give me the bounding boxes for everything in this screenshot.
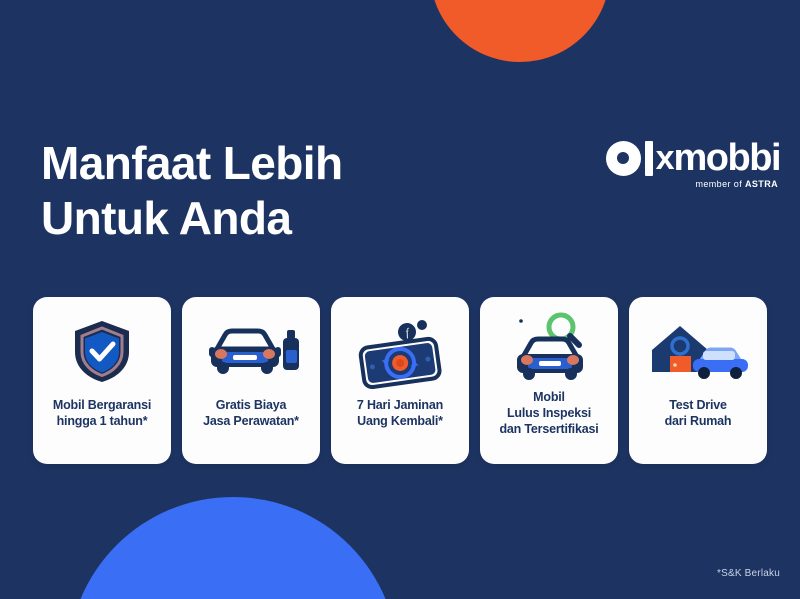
blue-circle-decoration xyxy=(68,497,398,599)
logo-member-brand: ASTRA xyxy=(745,179,778,189)
benefit-card-inspection[interactable]: Mobil Lulus Inspeksi dan Tersertifikasi xyxy=(480,297,618,464)
orange-circle-decoration xyxy=(430,0,610,62)
page-title: Manfaat Lebih Untuk Anda xyxy=(41,136,342,246)
promo-banner: Manfaat Lebih Untuk Anda x mobbi member … xyxy=(0,0,800,599)
terms-disclaimer: *S&K Berlaku xyxy=(717,568,780,579)
label-line: Jasa Perawatan* xyxy=(203,413,299,429)
benefit-card-money-back[interactable]: f 7 Ha xyxy=(331,297,469,464)
logo-bar-icon xyxy=(645,141,653,176)
logo-o-icon xyxy=(606,141,641,176)
label-line: dan Tersertifikasi xyxy=(500,421,599,437)
banknote-refund-icon: f xyxy=(350,305,450,397)
brand-logo[interactable]: x mobbi member of ASTRA xyxy=(606,138,780,189)
benefit-card-warranty[interactable]: Mobil Bergaransi hingga 1 tahun* xyxy=(33,297,171,464)
label-line: Gratis Biaya xyxy=(203,397,299,413)
logo-member-tagline: member of ASTRA xyxy=(606,179,780,189)
headline-line-2: Untuk Anda xyxy=(41,191,342,246)
label-line: Lulus Inspeksi xyxy=(500,405,599,421)
label-line: hingga 1 tahun* xyxy=(53,413,151,429)
headline-line-1: Manfaat Lebih xyxy=(41,136,342,191)
benefit-card-free-service[interactable]: Gratis Biaya Jasa Perawatan* xyxy=(182,297,320,464)
car-oil-bottle-icon xyxy=(201,305,301,397)
benefit-card-label: Mobil Lulus Inspeksi dan Tersertifikasi xyxy=(498,389,601,437)
label-line: Test Drive xyxy=(665,397,732,413)
label-line: 7 Hari Jaminan xyxy=(357,397,443,413)
house-car-test-drive-icon xyxy=(646,305,750,397)
benefit-card-list: Mobil Bergaransi hingga 1 tahun* xyxy=(33,297,767,464)
benefit-card-test-drive[interactable]: Test Drive dari Rumah xyxy=(629,297,767,464)
car-magnifier-inspection-icon xyxy=(503,305,595,389)
benefit-card-label: Gratis Biaya Jasa Perawatan* xyxy=(201,397,301,429)
logo-member-prefix: member of xyxy=(695,179,745,189)
logo-mobbi-text: mobbi xyxy=(674,139,780,177)
label-line: dari Rumah xyxy=(665,413,732,429)
shield-check-icon xyxy=(71,305,133,397)
logo-x-letter: x xyxy=(656,141,674,175)
label-line: Mobil Bergaransi xyxy=(53,397,151,413)
label-line: Mobil xyxy=(500,389,599,405)
benefit-card-label: Mobil Bergaransi hingga 1 tahun* xyxy=(51,397,153,429)
benefit-card-label: 7 Hari Jaminan Uang Kembali* xyxy=(355,397,445,429)
logo-wordmark: x mobbi xyxy=(606,138,780,178)
label-line: Uang Kembali* xyxy=(357,413,443,429)
benefit-card-label: Test Drive dari Rumah xyxy=(663,397,734,429)
